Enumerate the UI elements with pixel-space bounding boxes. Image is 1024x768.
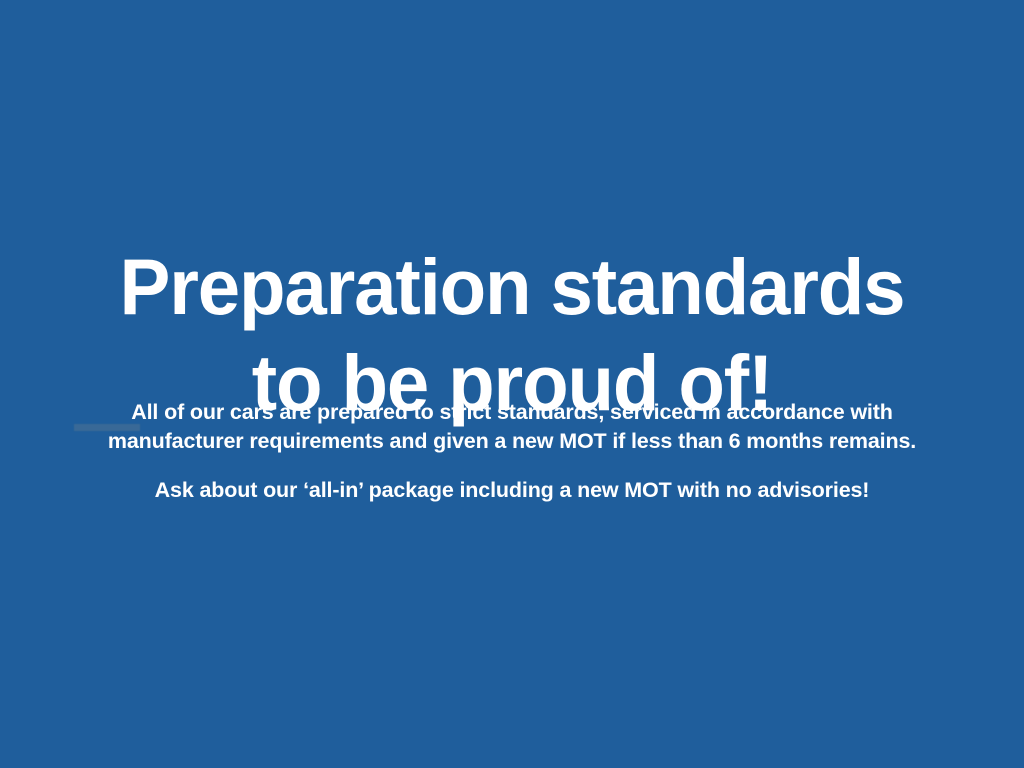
body-text-block: All of our cars are prepared to strict s…	[72, 398, 952, 505]
headline-line-1: Preparation standards	[18, 239, 1006, 335]
body-paragraph-standards: All of our cars are prepared to strict s…	[72, 398, 952, 456]
slide-canvas: Preparation standards to be proud of! Al…	[0, 0, 1024, 768]
body-paragraph-all-in-package: Ask about our ‘all-in’ package including…	[72, 476, 952, 505]
